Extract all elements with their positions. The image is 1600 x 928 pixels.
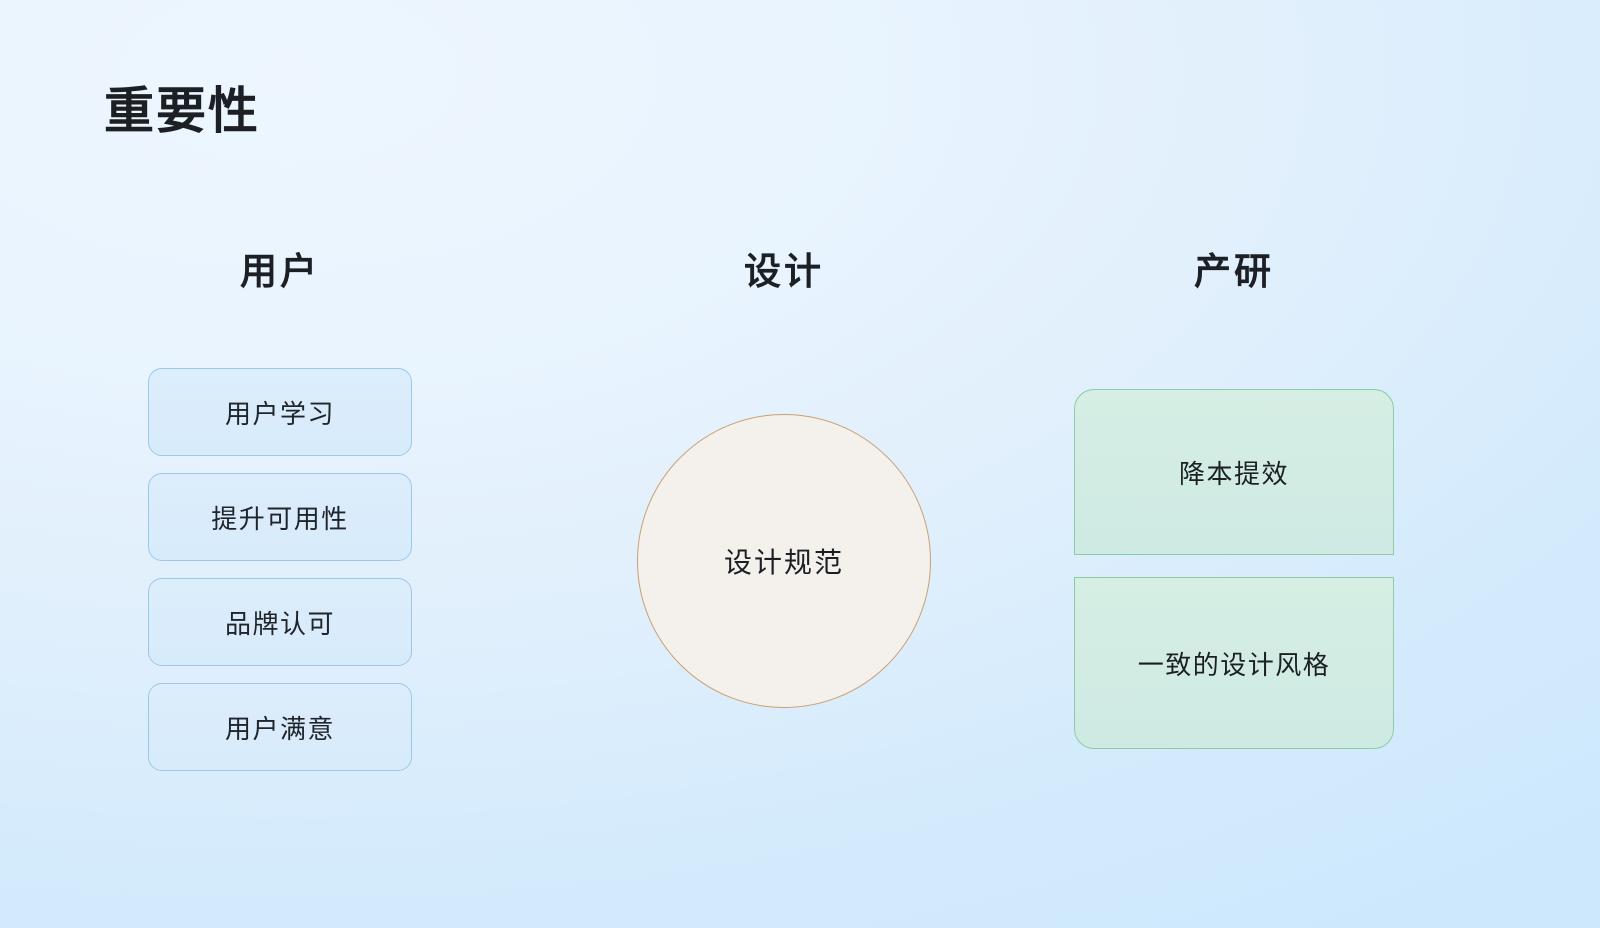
user-card-item[interactable]: 用户学习 [148, 368, 412, 456]
product-card-item[interactable]: 一致的设计风格 [1074, 577, 1394, 749]
column-user: 用户 [104, 250, 456, 294]
slide-canvas: 重要性 用户 用户学习 提升可用性 品牌认可 用户满意 设计 设计规范 产研 降… [0, 0, 1600, 928]
column-product: 产研 [1058, 250, 1410, 294]
user-card-list: 用户学习 提升可用性 品牌认可 用户满意 [148, 368, 412, 771]
user-card-item[interactable]: 品牌认可 [148, 578, 412, 666]
page-title: 重要性 [104, 82, 260, 141]
column-header-product: 产研 [1058, 250, 1410, 294]
product-card-list: 降本提效 一致的设计风格 [1074, 389, 1394, 749]
user-card-item[interactable]: 提升可用性 [148, 473, 412, 561]
design-spec-circle[interactable]: 设计规范 [637, 414, 931, 708]
user-card-item[interactable]: 用户满意 [148, 683, 412, 771]
column-design: 设计 [608, 250, 960, 294]
column-header-user: 用户 [104, 250, 456, 294]
product-card-item[interactable]: 降本提效 [1074, 389, 1394, 555]
column-header-design: 设计 [608, 250, 960, 294]
